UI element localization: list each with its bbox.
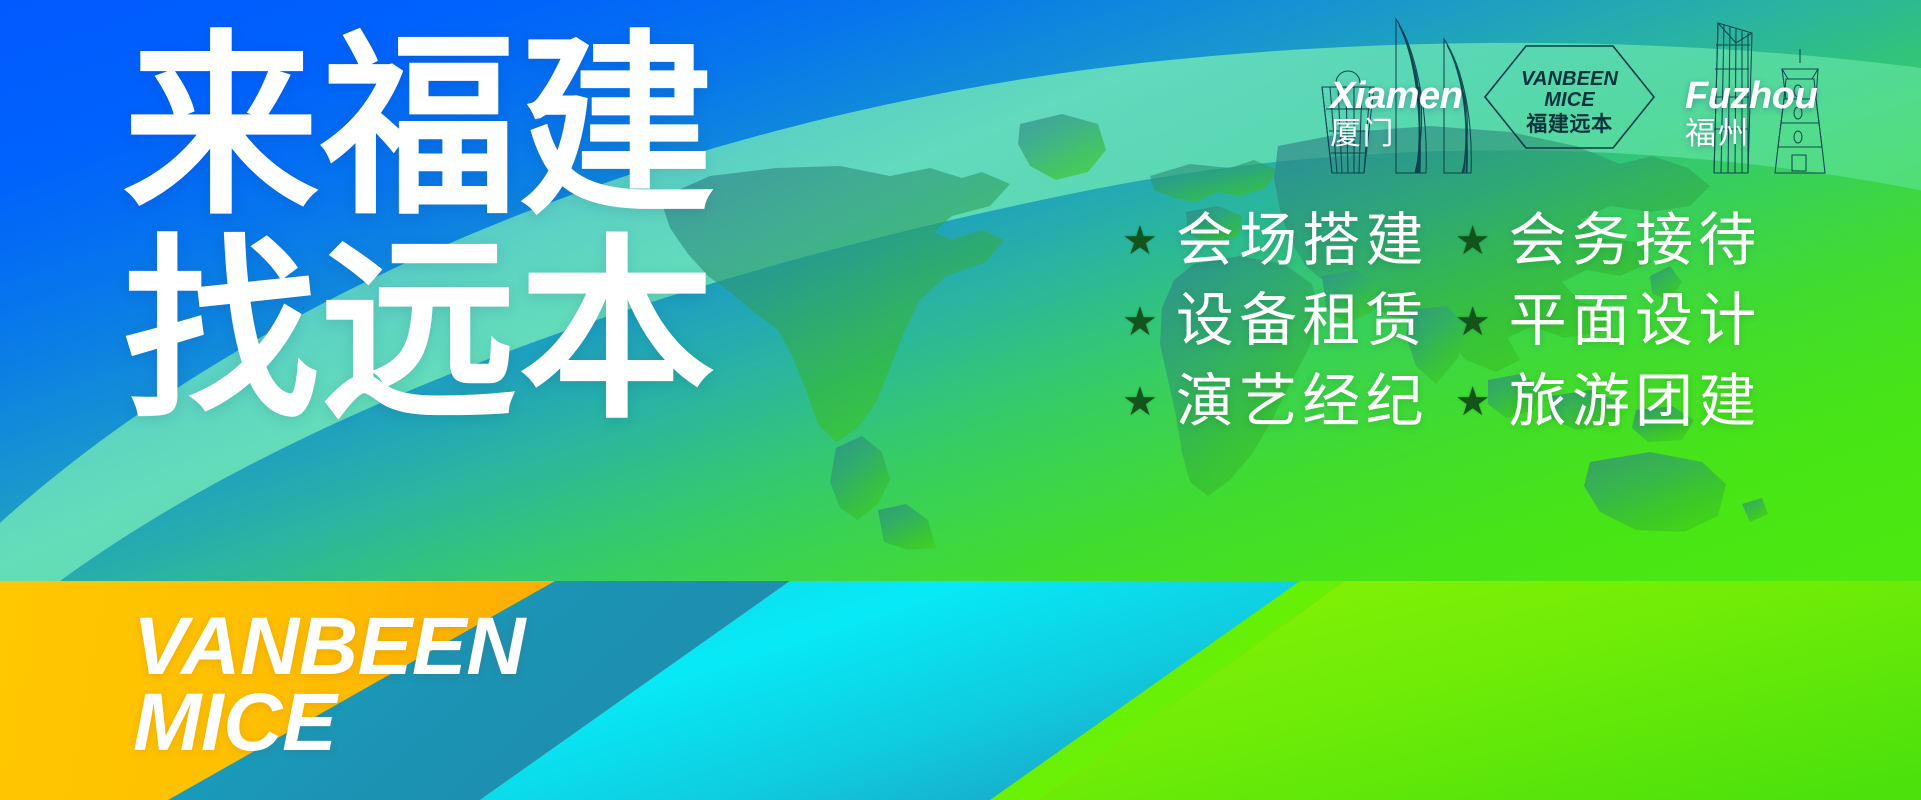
bottom-band: VANBEEN MICE [0, 581, 1921, 800]
brand-line-2: MICE [133, 685, 525, 761]
city-name-en: Fuzhou [1685, 77, 1817, 115]
service-label: 会务接待 [1509, 207, 1762, 275]
headline-line-2: 找远本 [123, 238, 717, 426]
city-logo-block[interactable]: Xiamen 厦门 Fuzhou 福州 VANBEEN MICE 福建远本 [1300, 5, 1915, 180]
service-item[interactable]: ★ 旅游团建 [1455, 368, 1762, 436]
badge-line-2: MICE [1544, 90, 1594, 110]
service-label: 旅游团建 [1509, 368, 1762, 436]
service-item[interactable]: ★ 会务接待 [1455, 207, 1762, 275]
headline-line-1: 来福建 [123, 34, 717, 222]
service-label: 平面设计 [1509, 287, 1762, 355]
service-label: 会场搭建 [1176, 207, 1429, 275]
badge-text: VANBEEN MICE 福建远本 [1482, 53, 1657, 153]
city-label-xiamen: Xiamen 厦门 [1330, 77, 1462, 149]
city-name-en: Xiamen [1330, 77, 1462, 115]
service-item[interactable]: ★ 演艺经纪 [1122, 368, 1429, 436]
service-list: ★ 会场搭建 ★ 会务接待 ★ 设备租赁 ★ 平面设计 ★ 演艺经纪 ★ 旅游团… [1122, 207, 1762, 436]
main-panel: 来福建 找远本 ★ 会场搭建 ★ 会务接待 ★ 设备租赁 ★ 平面设计 ★ [0, 0, 1921, 581]
star-icon: ★ [1455, 382, 1491, 422]
city-label-fuzhou: Fuzhou 福州 [1685, 77, 1817, 149]
star-icon: ★ [1122, 382, 1158, 422]
star-icon: ★ [1122, 302, 1158, 342]
service-label: 设备租赁 [1176, 287, 1429, 355]
city-name-cn: 福州 [1685, 118, 1817, 149]
service-item[interactable]: ★ 设备租赁 [1122, 287, 1429, 355]
service-item[interactable]: ★ 平面设计 [1455, 287, 1762, 355]
service-label: 演艺经纪 [1176, 368, 1429, 436]
badge-line-1: VANBEEN [1521, 69, 1618, 89]
star-icon: ★ [1455, 221, 1491, 261]
city-name-cn: 厦门 [1330, 118, 1462, 149]
service-item[interactable]: ★ 会场搭建 [1122, 207, 1429, 275]
promo-banner: 来福建 找远本 ★ 会场搭建 ★ 会务接待 ★ 设备租赁 ★ 平面设计 ★ [0, 0, 1921, 800]
page-title: 来福建 找远本 [123, 34, 717, 426]
brand-line-1: VANBEEN [133, 609, 525, 685]
star-icon: ★ [1122, 221, 1158, 261]
brand-wordmark: VANBEEN MICE [133, 609, 525, 762]
badge-line-3: 福建远本 [1526, 113, 1613, 137]
star-icon: ★ [1455, 302, 1491, 342]
